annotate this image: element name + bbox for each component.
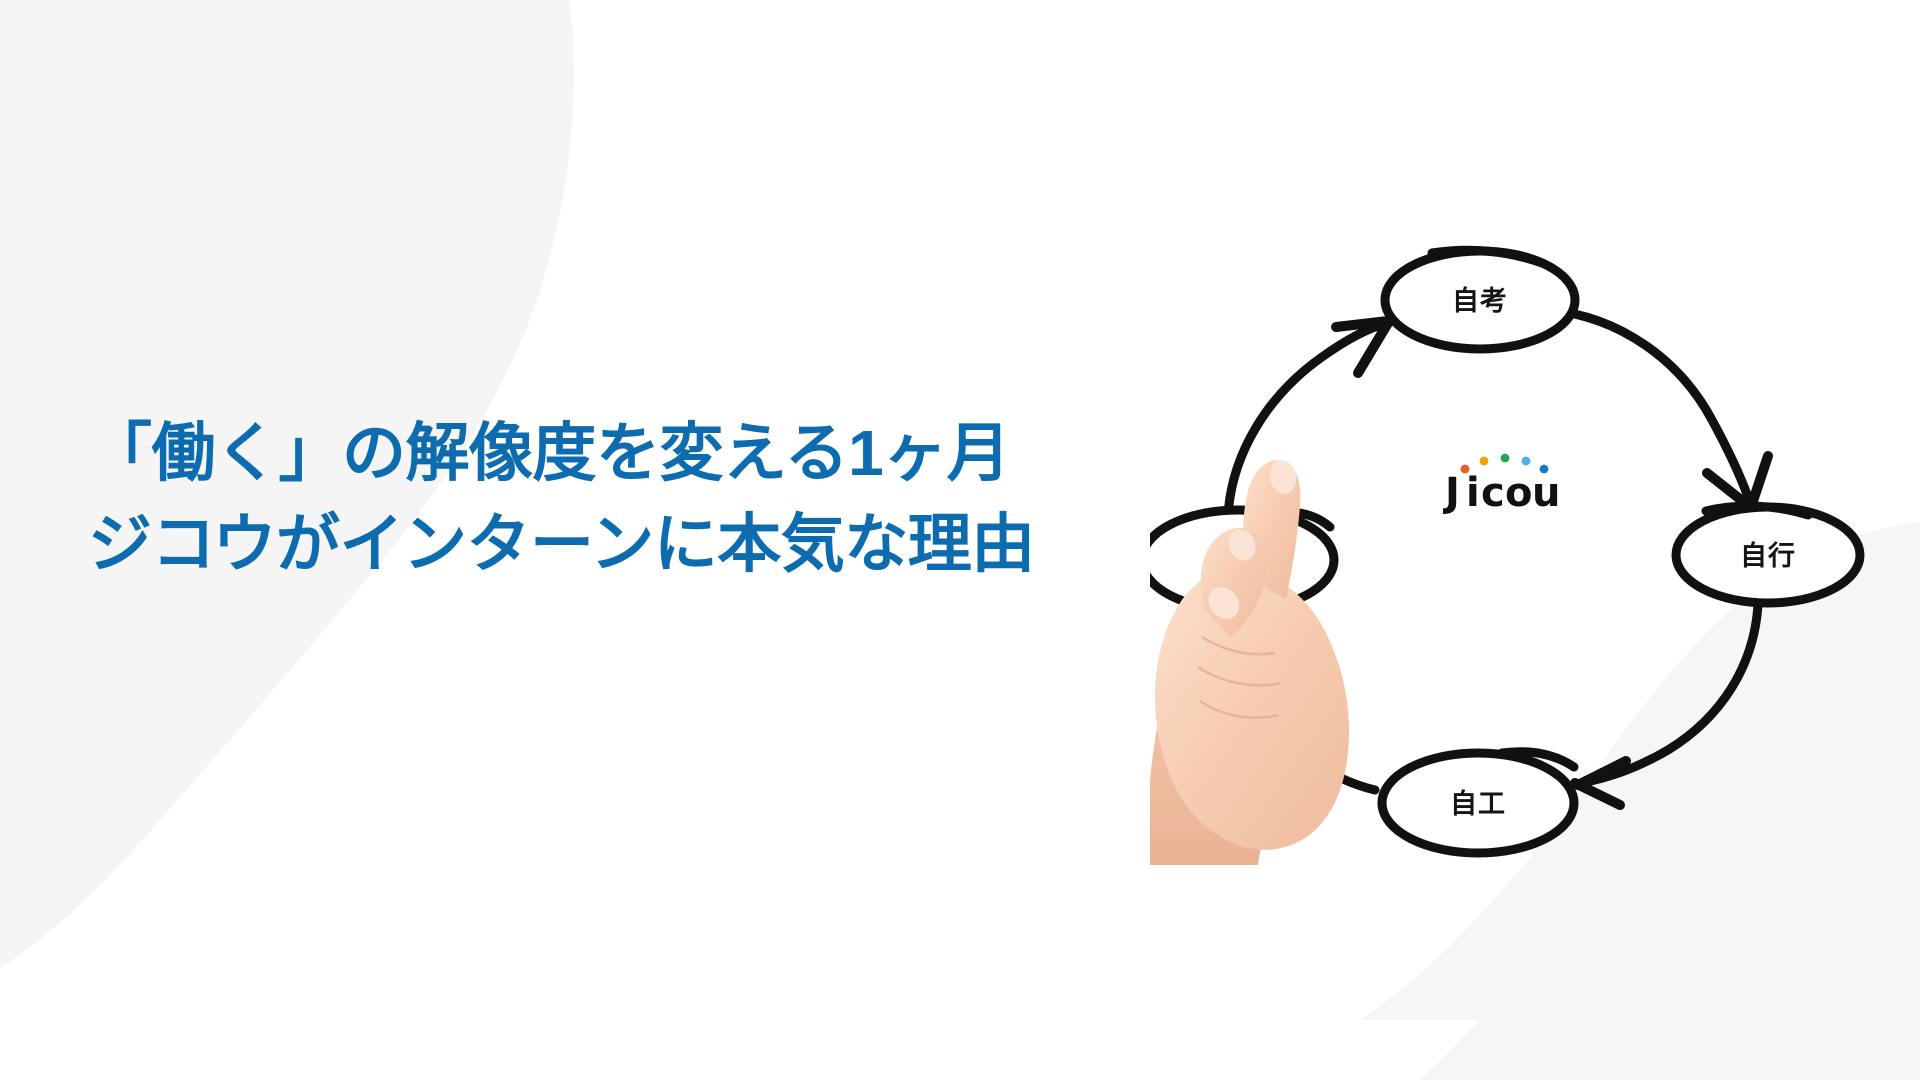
brand-logo: J i c o u bbox=[1443, 452, 1569, 516]
node-right-label: 自行 bbox=[1740, 540, 1796, 571]
headline-line-2: ジコウがインターンに本気な理由 bbox=[88, 499, 1108, 590]
arrowhead-top bbox=[1336, 321, 1388, 327]
logo-letter-o: o bbox=[1505, 470, 1531, 516]
logo-dot-4 bbox=[1522, 457, 1531, 466]
logo-letter-j: J bbox=[1443, 470, 1459, 516]
node-bottom[interactable]: 自工 bbox=[1382, 752, 1574, 853]
logo-letter-i: i bbox=[1466, 470, 1479, 516]
cycle-diagram: 自考 自行 自工 自幸 bbox=[1150, 205, 1890, 865]
arrowhead-bottom-b bbox=[1575, 783, 1620, 805]
headline-line-1: 「働く」の解像度を変える1ヶ月 bbox=[88, 408, 1108, 499]
node-top-label: 自考 bbox=[1452, 285, 1508, 316]
node-right[interactable]: 自行 bbox=[1676, 506, 1860, 603]
logo-letter-c: c bbox=[1481, 470, 1504, 516]
headline-block: 「働く」の解像度を変える1ヶ月 ジコウがインターンに本気な理由 bbox=[88, 408, 1108, 590]
node-top[interactable]: 自考 bbox=[1385, 250, 1575, 349]
arc-top-to-right bbox=[1550, 310, 1748, 497]
node-bottom-label: 自工 bbox=[1450, 788, 1506, 819]
logo-letter-u: u bbox=[1532, 470, 1559, 516]
logo-dot-2 bbox=[1480, 457, 1489, 466]
logo-dot-3 bbox=[1501, 454, 1510, 463]
arc-right-to-bottom bbox=[1582, 605, 1758, 783]
slide-canvas: 「働く」の解像度を変える1ヶ月 ジコウがインターンに本気な理由 bbox=[0, 0, 1920, 1080]
